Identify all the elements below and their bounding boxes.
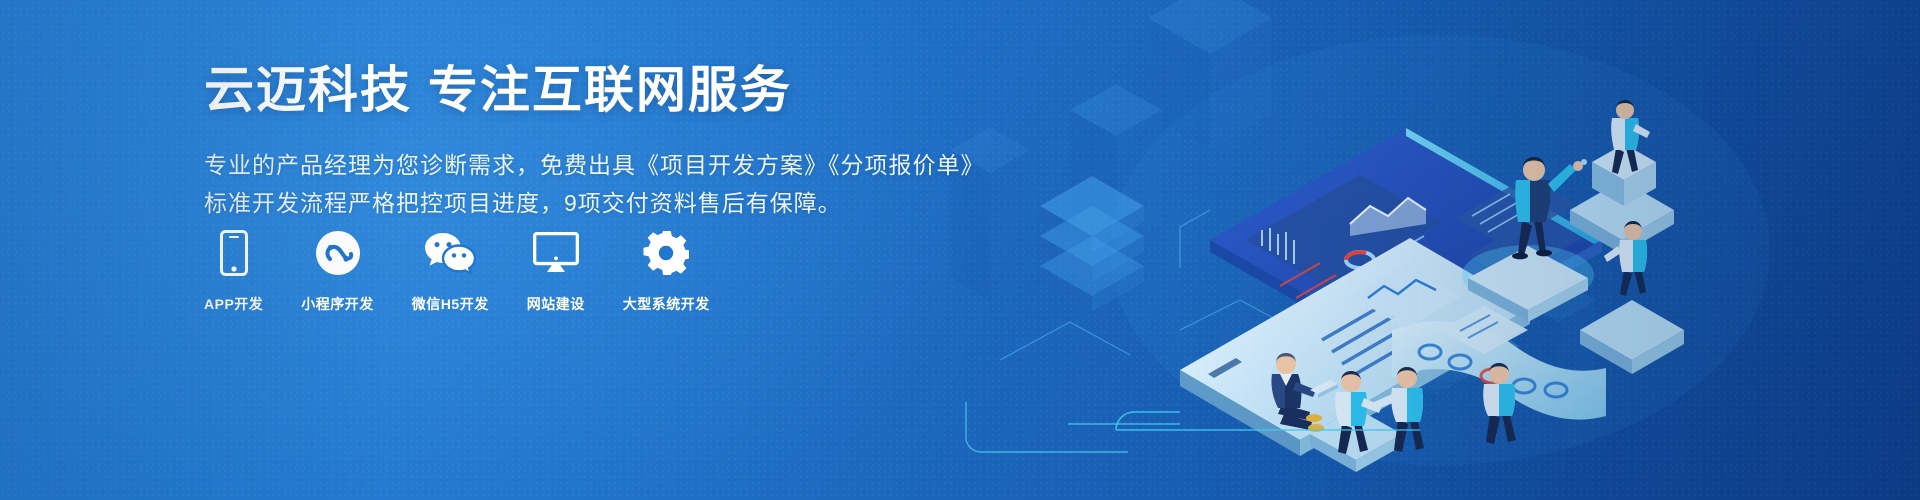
subtitle-line-2: 标准开发流程严格把控项目进度，9项交付资料售后有保障。 [204, 184, 904, 222]
subtitle-line-1: 专业的产品经理为您诊断需求，免费出具《项目开发方案》《分项报价单》 [204, 146, 904, 184]
service-label: 微信H5开发 [412, 294, 489, 314]
monitor-icon [533, 228, 579, 278]
page-title: 云迈科技 专注互联网服务 [204, 62, 904, 118]
service-item-app[interactable]: APP开发 [204, 228, 263, 314]
mini-program-icon [315, 228, 361, 278]
hero-banner: 云迈科技 专注互联网服务 专业的产品经理为您诊断需求，免费出具《项目开发方案》《… [0, 0, 1920, 500]
service-item-miniprogram[interactable]: 小程序开发 [301, 228, 374, 314]
wechat-icon [424, 228, 476, 278]
service-label: 大型系统开发 [623, 294, 710, 314]
hero-illustration [880, 0, 1920, 500]
mobile-phone-icon [220, 228, 248, 278]
service-label: APP开发 [204, 294, 263, 314]
service-label: 网站建设 [527, 294, 585, 314]
gear-icon [643, 228, 689, 278]
service-label: 小程序开发 [301, 294, 374, 314]
service-item-wechat[interactable]: 微信H5开发 [412, 228, 489, 314]
service-list: APP开发 小程序开发 [204, 228, 710, 314]
hero-subtitle: 专业的产品经理为您诊断需求，免费出具《项目开发方案》《分项报价单》 标准开发流程… [204, 146, 904, 222]
service-item-system[interactable]: 大型系统开发 [623, 228, 710, 314]
service-item-website[interactable]: 网站建设 [527, 228, 585, 314]
hero-copy: 云迈科技 专注互联网服务 专业的产品经理为您诊断需求，免费出具《项目开发方案》《… [204, 62, 904, 222]
